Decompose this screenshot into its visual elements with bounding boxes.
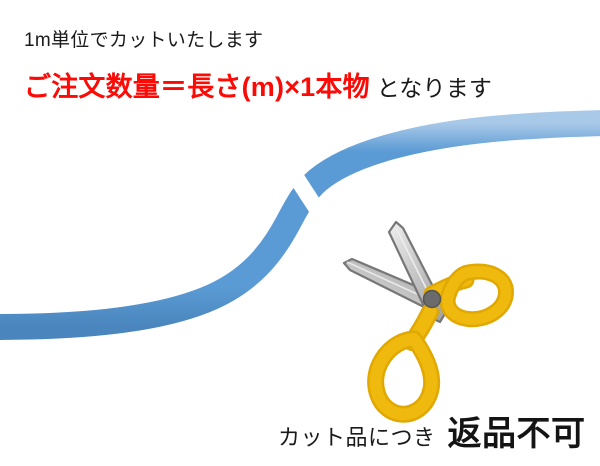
footnote-big-text: 返品不可 <box>448 415 586 453</box>
scissors-handle-right <box>432 272 506 320</box>
headline-main: ご注文数量＝長さ(m)×1本物となります <box>24 68 492 107</box>
scissors-handle-lower <box>376 312 432 414</box>
headline-sub-text: 1m単位でカットいたします <box>24 28 263 54</box>
scissors <box>344 222 506 414</box>
slide-canvas: 1m単位でカットいたします ご注文数量＝長さ(m)×1本物となります カット品に… <box>0 0 600 466</box>
footnote: カット品につき返品不可 <box>278 412 586 463</box>
footnote-small-text: カット品につき <box>278 425 436 450</box>
scissors-pivot <box>424 291 441 308</box>
headline-main-red-text: ご注文数量＝長さ(m)×1本物 <box>24 72 370 102</box>
headline-main-black-text: となります <box>377 75 492 101</box>
